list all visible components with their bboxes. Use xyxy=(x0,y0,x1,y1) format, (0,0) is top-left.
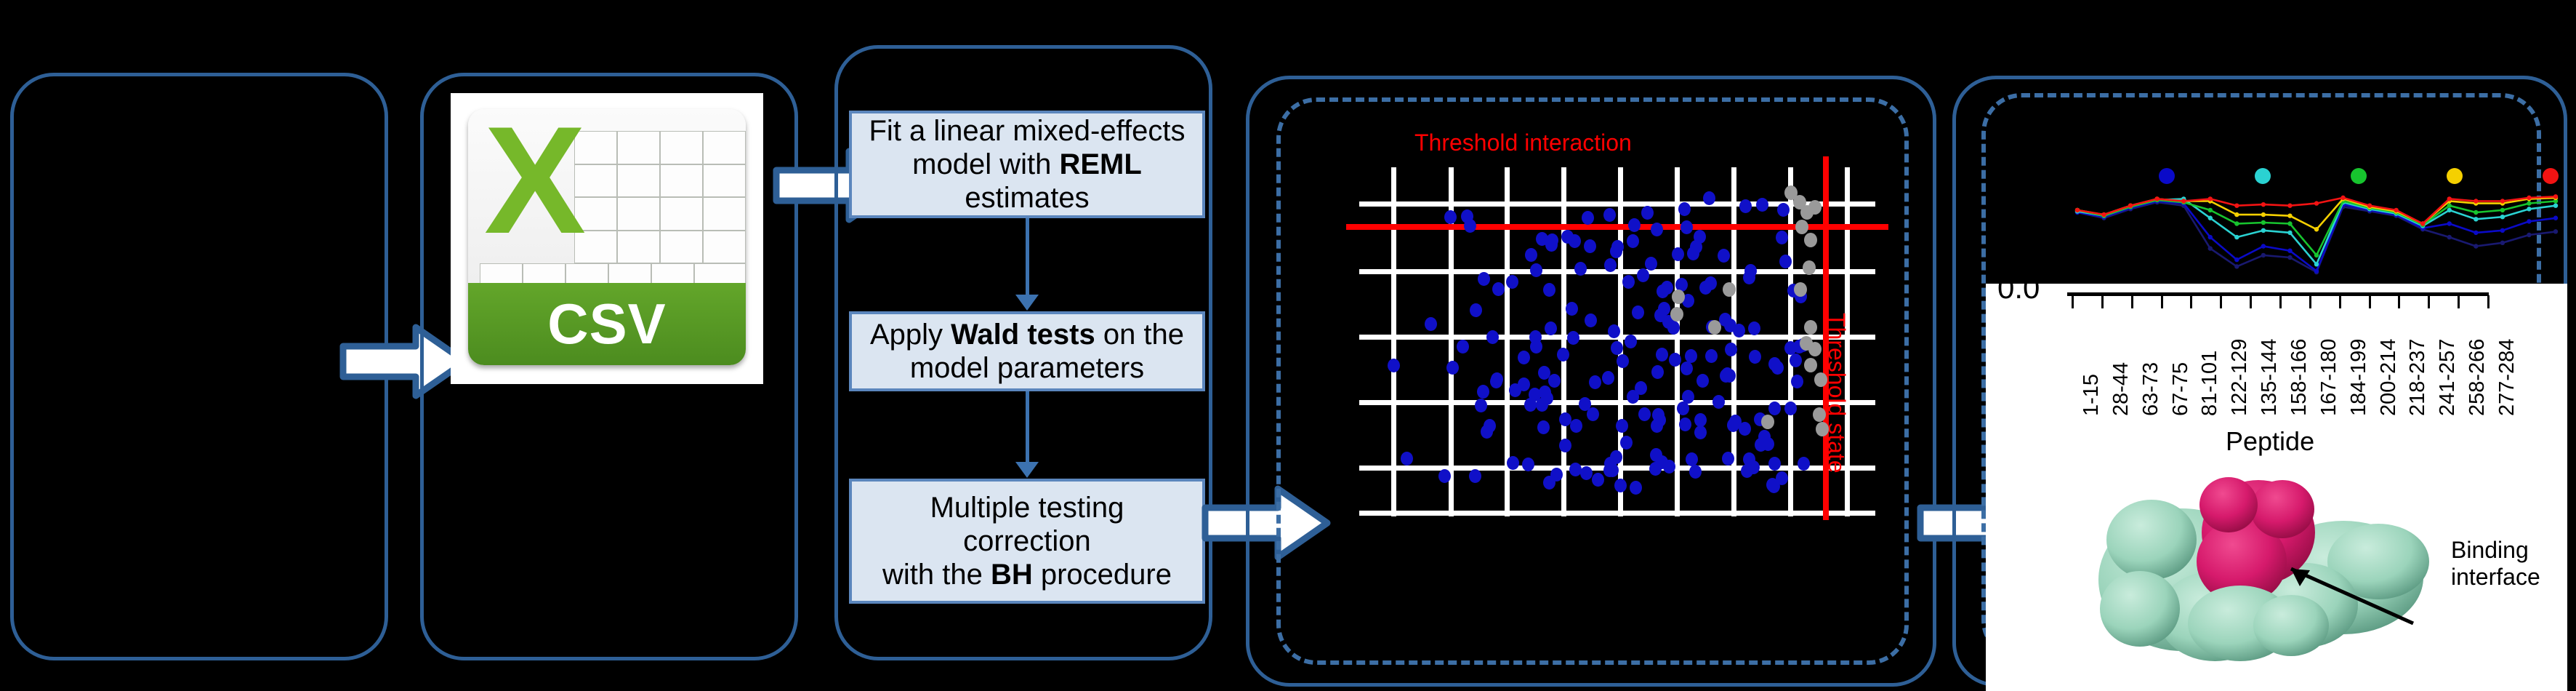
chart-legend xyxy=(2137,164,2573,193)
csv-x-letter: X xyxy=(484,119,586,241)
chart-series-marker xyxy=(2500,241,2505,245)
chart-series-line xyxy=(2077,196,2556,223)
x-axis-tick-label: 241-257 xyxy=(2436,339,2460,416)
volcano-points-layer xyxy=(1359,167,1875,516)
volcano-point xyxy=(1525,248,1537,262)
chart-series-marker xyxy=(2287,249,2292,253)
volcano-point xyxy=(1536,232,1548,246)
chart-series-marker xyxy=(2447,196,2452,201)
chart-series-marker xyxy=(2394,208,2398,212)
volcano-point xyxy=(1771,361,1784,375)
step-bh-text: Multiple testingcorrectionwith the BH pr… xyxy=(882,491,1172,591)
chart-series-marker xyxy=(2234,221,2239,225)
volcano-point xyxy=(1478,272,1490,286)
chart-series-marker xyxy=(2447,208,2452,212)
volcano-point xyxy=(1446,361,1459,375)
volcano-point xyxy=(1569,463,1582,476)
x-axis-tick-label: 277-284 xyxy=(2495,339,2519,416)
volcano-point xyxy=(1656,348,1668,362)
x-axis-tick-label: 200-214 xyxy=(2377,339,2401,416)
volcano-point xyxy=(1438,469,1451,483)
volcano-point xyxy=(1477,385,1489,399)
volcano-point xyxy=(1388,359,1400,372)
volcano-point xyxy=(1444,210,1457,224)
volcano-point xyxy=(1628,218,1641,232)
volcano-point xyxy=(1718,249,1730,263)
volcano-point xyxy=(1622,275,1635,289)
chart-series-marker xyxy=(2208,216,2213,220)
volcano-point xyxy=(1791,375,1803,388)
volcano-point-grey xyxy=(1708,320,1721,335)
volcano-point xyxy=(1784,341,1797,355)
legend-dot xyxy=(2351,168,2367,184)
chart-series-marker xyxy=(2101,212,2106,217)
volcano-point xyxy=(1696,374,1709,388)
volcano-point xyxy=(1545,321,1557,335)
y-axis-label: 0.0 xyxy=(1997,271,2040,305)
legend-dot xyxy=(2159,168,2175,184)
volcano-point xyxy=(1627,234,1639,248)
chart-series-marker xyxy=(2340,196,2345,200)
chart-series-marker xyxy=(2553,204,2558,208)
volcano-point-grey xyxy=(1672,289,1685,304)
volcano-point xyxy=(1663,460,1675,474)
chart-series-marker xyxy=(2208,196,2213,201)
volcano-point xyxy=(1610,244,1622,258)
volcano-point xyxy=(1604,258,1617,272)
volcano-point xyxy=(1491,372,1503,386)
volcano-point xyxy=(1630,481,1642,495)
step-wald-box[interactable]: Apply Wald tests on the model parameters xyxy=(849,311,1205,391)
step-reml-suffix: estimates xyxy=(965,182,1089,214)
chart-series-marker xyxy=(2154,196,2159,201)
volcano-point xyxy=(1610,450,1622,464)
volcano-point-grey xyxy=(1795,220,1808,234)
chart-series-marker xyxy=(2234,212,2239,217)
volcano-point xyxy=(1470,303,1482,317)
volcano-point-grey xyxy=(1808,342,1822,356)
x-axis-tick-label: 135-144 xyxy=(2258,339,2282,416)
volcano-point xyxy=(1507,456,1519,470)
volcano-point xyxy=(1559,439,1571,452)
volcano-point xyxy=(1651,365,1664,379)
chart-series-marker xyxy=(2075,208,2080,212)
chart-series-marker xyxy=(2287,255,2292,260)
chart-series-marker xyxy=(2287,231,2292,235)
chart-series-marker xyxy=(2420,221,2425,225)
x-axis-tick-label: 67-75 xyxy=(2169,362,2193,416)
volcano-point xyxy=(1401,452,1413,466)
volcano-point xyxy=(1739,422,1751,436)
volcano-point xyxy=(1798,457,1810,471)
volcano-point-grey xyxy=(1804,358,1817,372)
chart-series-marker xyxy=(2234,264,2239,268)
volcano-point xyxy=(1543,283,1555,297)
x-axis-tick-label: 81-101 xyxy=(2198,351,2222,416)
chart-series-marker xyxy=(2474,217,2478,221)
chart-series-marker xyxy=(2314,262,2319,266)
step-wald-text: Apply Wald tests on the model parameters xyxy=(859,318,1195,385)
x-axis-tick-labels: 1-1528-4463-7367-7581-101122-129135-1441… xyxy=(1986,284,2567,429)
volcano-point xyxy=(1537,420,1550,434)
chart-series-marker xyxy=(2314,227,2319,231)
volcano-point xyxy=(1608,324,1620,338)
volcano-point xyxy=(1632,305,1644,319)
legend-dot xyxy=(2543,168,2559,184)
chart-series-marker xyxy=(2474,210,2478,215)
volcano-point xyxy=(1518,351,1530,364)
volcano-point-grey xyxy=(1804,233,1817,247)
volcano-point-grey xyxy=(1761,415,1774,429)
step-bh-box[interactable]: Multiple testingcorrectionwith the BH pr… xyxy=(849,479,1205,604)
volcano-point xyxy=(1469,469,1481,483)
connector-1-head-icon xyxy=(1015,295,1039,311)
volcano-point xyxy=(1694,426,1707,439)
chart-series-marker xyxy=(2527,196,2531,200)
volcano-point xyxy=(1603,208,1616,222)
volcano-point xyxy=(1651,223,1663,236)
chart-series-marker xyxy=(2261,220,2266,225)
volcano-point xyxy=(1703,191,1715,205)
volcano-point xyxy=(1530,340,1542,354)
volcano-point xyxy=(1566,302,1578,316)
volcano-point xyxy=(1694,230,1706,244)
connector-2-head-icon xyxy=(1015,462,1039,478)
volcano-point xyxy=(1627,390,1639,404)
volcano-point xyxy=(1669,353,1681,367)
volcano-point xyxy=(1522,458,1534,471)
step-reml-bold: REML xyxy=(1059,148,1141,180)
volcano-point xyxy=(1689,465,1702,479)
csv-label: CSV xyxy=(547,291,666,357)
volcano-point xyxy=(1749,350,1761,364)
step-reml-box[interactable]: Fit a linear mixed-effects model with RE… xyxy=(849,111,1205,218)
binding-label-line2: interface xyxy=(2451,564,2540,591)
volcano-point xyxy=(1592,473,1604,487)
chart-series-marker xyxy=(2208,235,2213,239)
volcano-point xyxy=(1574,262,1587,276)
chart-series-marker xyxy=(2474,244,2478,248)
volcano-point xyxy=(1679,418,1691,431)
volcano-point xyxy=(1567,331,1579,345)
volcano-point xyxy=(1637,268,1649,282)
volcano-point xyxy=(1667,321,1680,335)
chart-series-marker xyxy=(2208,246,2213,250)
binding-label-line1: Binding xyxy=(2451,537,2540,564)
chart-series-marker xyxy=(2500,208,2505,212)
volcano-point xyxy=(1614,479,1627,492)
chart-series-marker xyxy=(2261,228,2266,233)
x-axis-tick-label: 167-180 xyxy=(2317,339,2341,416)
volcano-point xyxy=(1587,407,1599,421)
volcano-point xyxy=(1685,349,1697,363)
chart-series-marker xyxy=(2500,199,2505,203)
volcano-point xyxy=(1721,367,1734,381)
chart-series-marker xyxy=(2500,215,2505,219)
chart-series-marker xyxy=(2314,253,2319,257)
volcano-point xyxy=(1570,419,1582,433)
volcano-point xyxy=(1585,313,1597,327)
volcano-point-grey xyxy=(1803,260,1816,275)
x-axis-tick-label: 184-199 xyxy=(2347,339,2371,416)
volcano-point-grey xyxy=(1814,372,1827,387)
volcano-point-grey xyxy=(1804,320,1817,335)
csv-file-icon: X CSV xyxy=(468,109,746,365)
volcano-point xyxy=(1681,362,1693,375)
x-axis-tick-label: 158-166 xyxy=(2287,339,2311,416)
input-panel xyxy=(10,73,388,660)
step-reml-text: Fit a linear mixed-effects model with RE… xyxy=(859,114,1195,215)
chart-series-marker xyxy=(2527,233,2531,237)
volcano-point xyxy=(1777,203,1790,217)
volcano-point xyxy=(1475,399,1487,412)
volcano-point xyxy=(1584,239,1596,253)
legend-dot xyxy=(2447,168,2463,184)
volcano-point xyxy=(1704,276,1717,290)
connector-2 xyxy=(1026,391,1029,464)
chart-series-marker xyxy=(2128,204,2133,208)
volcano-point xyxy=(1776,471,1788,485)
volcano-point xyxy=(1779,255,1792,268)
chart-series-marker xyxy=(2287,221,2292,225)
volcano-point xyxy=(1557,348,1569,362)
step-wald-prefix: Apply xyxy=(870,319,951,351)
chart-series-line xyxy=(2077,202,2556,272)
step-bh-line1: Multiple testingcorrection xyxy=(930,492,1124,557)
volcano-point-grey xyxy=(1808,200,1822,215)
chart-series-marker xyxy=(2447,221,2452,225)
results-white-card: 1-1528-4463-7367-7581-101122-129135-1441… xyxy=(1986,284,2567,691)
step-bh-suffix: procedure xyxy=(1033,559,1172,591)
chart-series-marker xyxy=(2234,204,2239,208)
chart-series-marker xyxy=(2527,207,2531,211)
connector-1 xyxy=(1026,218,1029,297)
chart-series-marker xyxy=(2234,235,2239,239)
volcano-point xyxy=(1548,374,1561,388)
volcano-point xyxy=(1672,247,1684,261)
step-wald-bold: Wald tests xyxy=(951,319,1095,351)
volcano-point xyxy=(1492,282,1505,296)
chart-series-marker xyxy=(2447,235,2452,239)
volcano-point xyxy=(1530,263,1542,277)
chart-series-marker xyxy=(2234,257,2239,262)
x-axis-tick-label: 258-266 xyxy=(2466,339,2490,416)
chart-series-marker xyxy=(2314,201,2319,205)
volcano-point xyxy=(1649,462,1662,476)
diagram-canvas: X CSV Fit a linear mixed-effects model w… xyxy=(0,0,2576,687)
chart-series-marker xyxy=(2474,231,2478,235)
volcano-point xyxy=(1784,402,1797,415)
volcano-point xyxy=(1620,436,1633,450)
volcano-point xyxy=(1641,206,1654,220)
volcano-point xyxy=(1461,209,1473,223)
chart-series-marker xyxy=(2553,216,2558,220)
x-axis-tick-label: 1-15 xyxy=(2080,374,2104,416)
chart-series-marker xyxy=(2500,228,2505,233)
chart-series-marker xyxy=(2553,194,2558,199)
x-axis-tick-label: 122-129 xyxy=(2228,339,2252,416)
volcano-point xyxy=(1457,340,1469,354)
csv-label-band: CSV xyxy=(468,283,746,365)
threshold-interaction-label: Threshold interaction xyxy=(1414,129,1632,156)
x-axis-tick-label: 63-73 xyxy=(2139,362,2163,416)
volcano-point xyxy=(1657,284,1669,298)
volcano-point xyxy=(1611,341,1623,355)
chart-series-marker xyxy=(2527,201,2531,205)
volcano-point xyxy=(1694,413,1707,427)
volcano-point-grey xyxy=(1723,282,1736,297)
volcano-point xyxy=(1580,466,1593,480)
volcano-point xyxy=(1678,202,1691,216)
volcano-point xyxy=(1744,264,1757,278)
volcano-point-grey xyxy=(1813,407,1826,422)
volcano-point xyxy=(1506,275,1518,289)
volcano-point xyxy=(1638,407,1651,421)
volcano-point xyxy=(1652,408,1665,422)
volcano-point xyxy=(1561,230,1574,244)
chart-series-marker xyxy=(2287,213,2292,217)
chart-series-marker xyxy=(2447,204,2452,208)
volcano-point xyxy=(1543,476,1555,490)
chart-series-marker xyxy=(2261,253,2266,257)
volcano-point xyxy=(1756,198,1768,212)
volcano-point xyxy=(1509,383,1521,397)
volcano-point xyxy=(1790,354,1802,367)
x-axis-tick-label: 28-44 xyxy=(2109,362,2133,416)
volcano-point xyxy=(1768,402,1781,415)
volcano-point xyxy=(1776,231,1788,244)
volcano-point-grey xyxy=(1670,307,1683,321)
peptide-line-chart xyxy=(2064,185,2566,284)
volcano-point xyxy=(1725,343,1737,356)
volcano-point xyxy=(1589,375,1601,389)
volcano-point xyxy=(1602,371,1614,385)
volcano-point xyxy=(1486,330,1499,344)
volcano-point xyxy=(1712,395,1725,409)
volcano-point xyxy=(1425,317,1437,331)
chart-series-marker xyxy=(2261,244,2266,248)
volcano-point-grey xyxy=(1794,282,1807,297)
x-axis-tick-label: 218-237 xyxy=(2406,339,2430,416)
chart-series-marker xyxy=(2261,202,2266,207)
protein-structure-image xyxy=(2073,452,2451,671)
chart-series-marker xyxy=(2553,229,2558,233)
volcano-point xyxy=(1705,349,1718,363)
volcano-point xyxy=(1681,220,1693,234)
volcano-point xyxy=(1481,425,1493,439)
chart-series-marker xyxy=(2208,208,2213,212)
volcano-point xyxy=(1616,419,1628,433)
volcano-point xyxy=(1625,335,1637,348)
volcano-point xyxy=(1645,257,1657,271)
volcano-point xyxy=(1582,211,1594,225)
volcano-point xyxy=(1741,464,1753,478)
volcano-point-grey xyxy=(1816,422,1829,436)
chart-series-marker xyxy=(2367,204,2372,208)
volcano-point xyxy=(1733,324,1745,337)
step-bh-bold: BH xyxy=(991,559,1033,591)
binding-interface-label: Binding interface xyxy=(2451,537,2540,591)
step-bh-prefix: with the xyxy=(882,559,991,591)
volcano-point xyxy=(1748,321,1760,335)
volcano-point xyxy=(1722,452,1734,466)
chart-series-marker xyxy=(2287,204,2292,208)
csv-file-thumbnail: X CSV xyxy=(451,93,763,384)
chart-series-marker xyxy=(2314,268,2319,273)
chart-series-marker xyxy=(2527,219,2531,223)
chart-series-marker xyxy=(2181,199,2186,203)
volcano-point xyxy=(1682,390,1694,404)
legend-dot xyxy=(2255,168,2271,184)
volcano-point xyxy=(1768,457,1781,471)
volcano-point xyxy=(1617,354,1629,368)
chart-series-marker xyxy=(2474,199,2478,203)
chart-series-marker xyxy=(2261,212,2266,217)
volcano-point xyxy=(1739,199,1752,213)
